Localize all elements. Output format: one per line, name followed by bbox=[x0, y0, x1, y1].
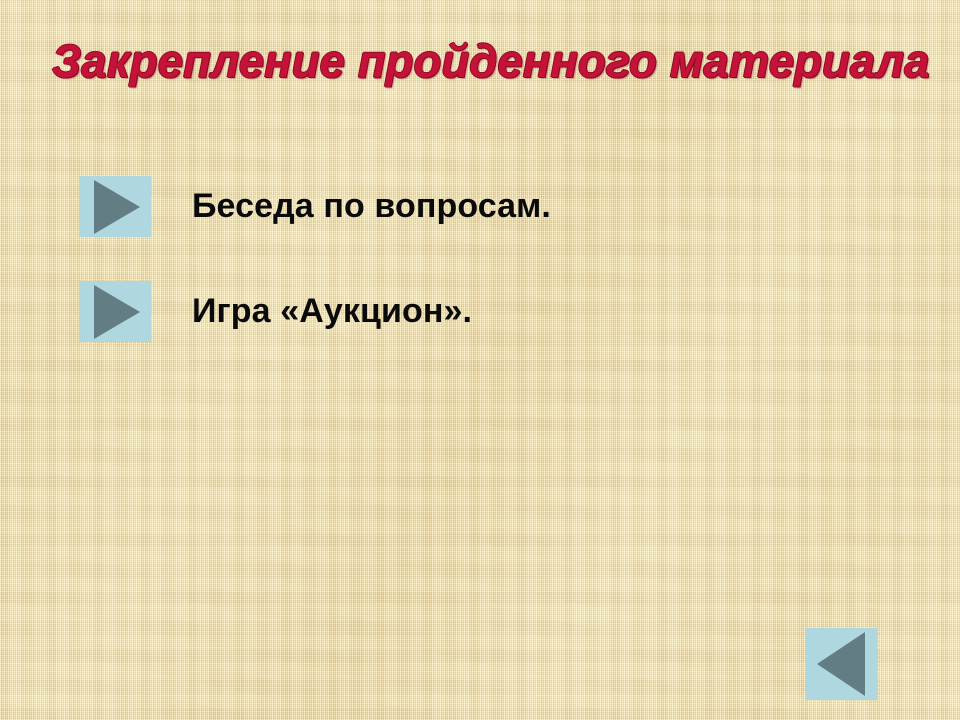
list-item-label: Беседа по вопросам. bbox=[192, 176, 551, 237]
slide-canvas: Закрепление пройденного материала Беседа… bbox=[0, 0, 960, 720]
list-item[interactable]: Игра «Аукцион». bbox=[79, 281, 472, 342]
play-triangle-right-icon bbox=[79, 176, 151, 237]
triangle-shape bbox=[94, 180, 140, 234]
back-button[interactable] bbox=[806, 628, 877, 700]
list-item[interactable]: Беседа по вопросам. bbox=[79, 176, 551, 237]
play-triangle-left-icon bbox=[817, 632, 865, 696]
page-title: Закрепление пройденного материала bbox=[52, 34, 899, 88]
list-item-label: Игра «Аукцион». bbox=[192, 281, 472, 342]
triangle-shape bbox=[94, 285, 140, 339]
play-triangle-right-icon bbox=[79, 281, 151, 342]
